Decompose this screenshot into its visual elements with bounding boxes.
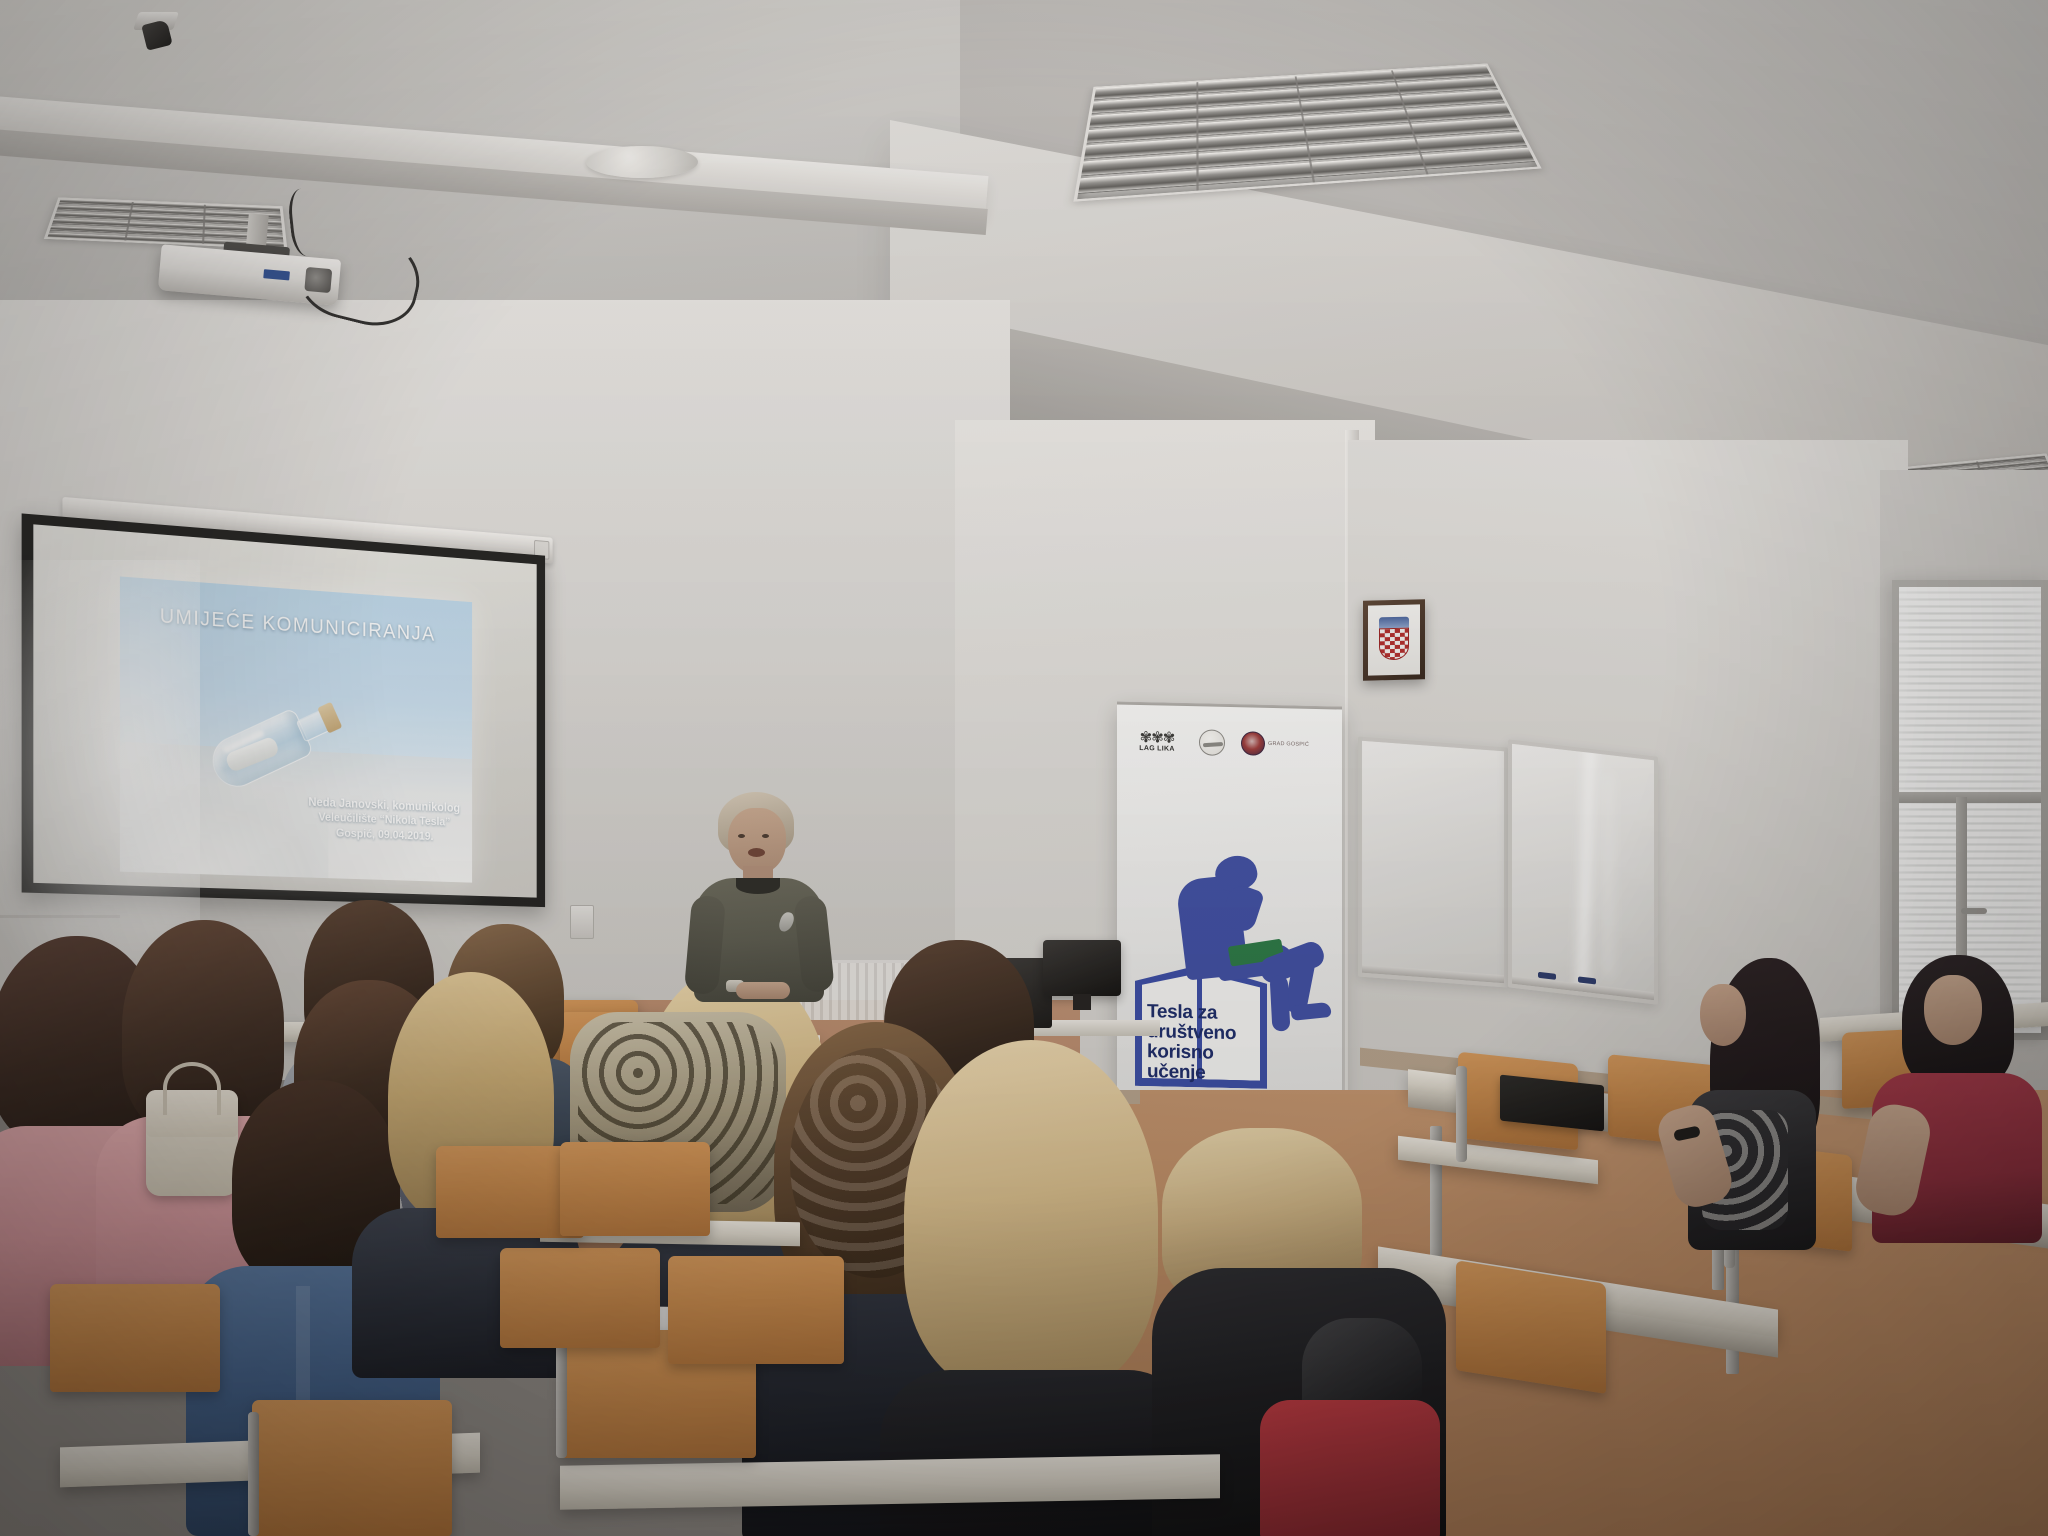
- attendee-red-top-far-right: [1862, 955, 2042, 1235]
- attendee-seated-floral-dress: [1648, 958, 1838, 1308]
- screen-border: UMIJEĆE KOMUNICIRANJA Neda Janovski, kom…: [22, 513, 545, 907]
- whiteboard-right: [1508, 739, 1658, 1004]
- croatian-coat-of-arms-frame: [1363, 599, 1425, 681]
- chair-foreground-1-post: [248, 1412, 259, 1536]
- banner-logo-row: ✾✾✾ LAG LIKA GRAD GOSPIĆ: [1131, 724, 1331, 763]
- projection-screen: UMIJEĆE KOMUNICIRANJA Neda Janovski, kom…: [4, 500, 552, 907]
- red-emblem-logo-icon: [1241, 731, 1265, 756]
- chair-right-1-post: [1456, 1066, 1467, 1162]
- presenter: [688, 792, 834, 1002]
- presenter-face: [728, 808, 786, 874]
- whiteboard-left: [1358, 736, 1508, 987]
- lecture-hall-photo: UMIJEĆE KOMUNICIRANJA Neda Janovski, kom…: [0, 0, 2048, 1536]
- red-emblem-logo-label: GRAD GOSPIĆ: [1268, 741, 1309, 748]
- presenter-hands: [736, 982, 790, 999]
- student-red-bag: [1260, 1400, 1440, 1536]
- slide-title: UMIJEĆE KOMUNICIRANJA: [120, 602, 472, 649]
- chair-centre-3: [560, 1142, 710, 1236]
- chair-left-1: [50, 1284, 220, 1392]
- screen-canvas: UMIJEĆE KOMUNICIRANJA Neda Janovski, kom…: [33, 524, 536, 897]
- slide-sand-mound: [120, 782, 329, 878]
- lag-lika-logo-icon: ✾✾✾ LAG LIKA: [1131, 730, 1183, 753]
- slide-subtitle-block: Neda Janovski, komunikolog Veleučilište …: [308, 794, 460, 844]
- seated-reading-man-icon: [1173, 849, 1333, 1033]
- circle-emblem-logo-icon: [1199, 729, 1225, 756]
- chair-mid-2: [668, 1256, 844, 1364]
- projected-slide: UMIJEĆE KOMUNICIRANJA Neda Janovski, kom…: [120, 576, 472, 882]
- presenter-collar: [736, 878, 780, 894]
- chair-mid-1: [500, 1248, 660, 1348]
- chair-foreground-1: [252, 1400, 452, 1536]
- croatian-coat-of-arms-icon: [1377, 619, 1411, 662]
- wall-seam: [0, 915, 120, 918]
- lag-lika-logo-label: LAG LIKA: [1131, 745, 1183, 753]
- window-transom-divider: [1899, 792, 2041, 803]
- chair-foreground-2-post: [556, 1342, 567, 1458]
- chair-right-4: [1456, 1260, 1606, 1394]
- ceiling-speaker-1: [586, 146, 698, 178]
- window-handle[interactable]: [1961, 908, 1987, 914]
- presenter-mouth: [748, 848, 765, 857]
